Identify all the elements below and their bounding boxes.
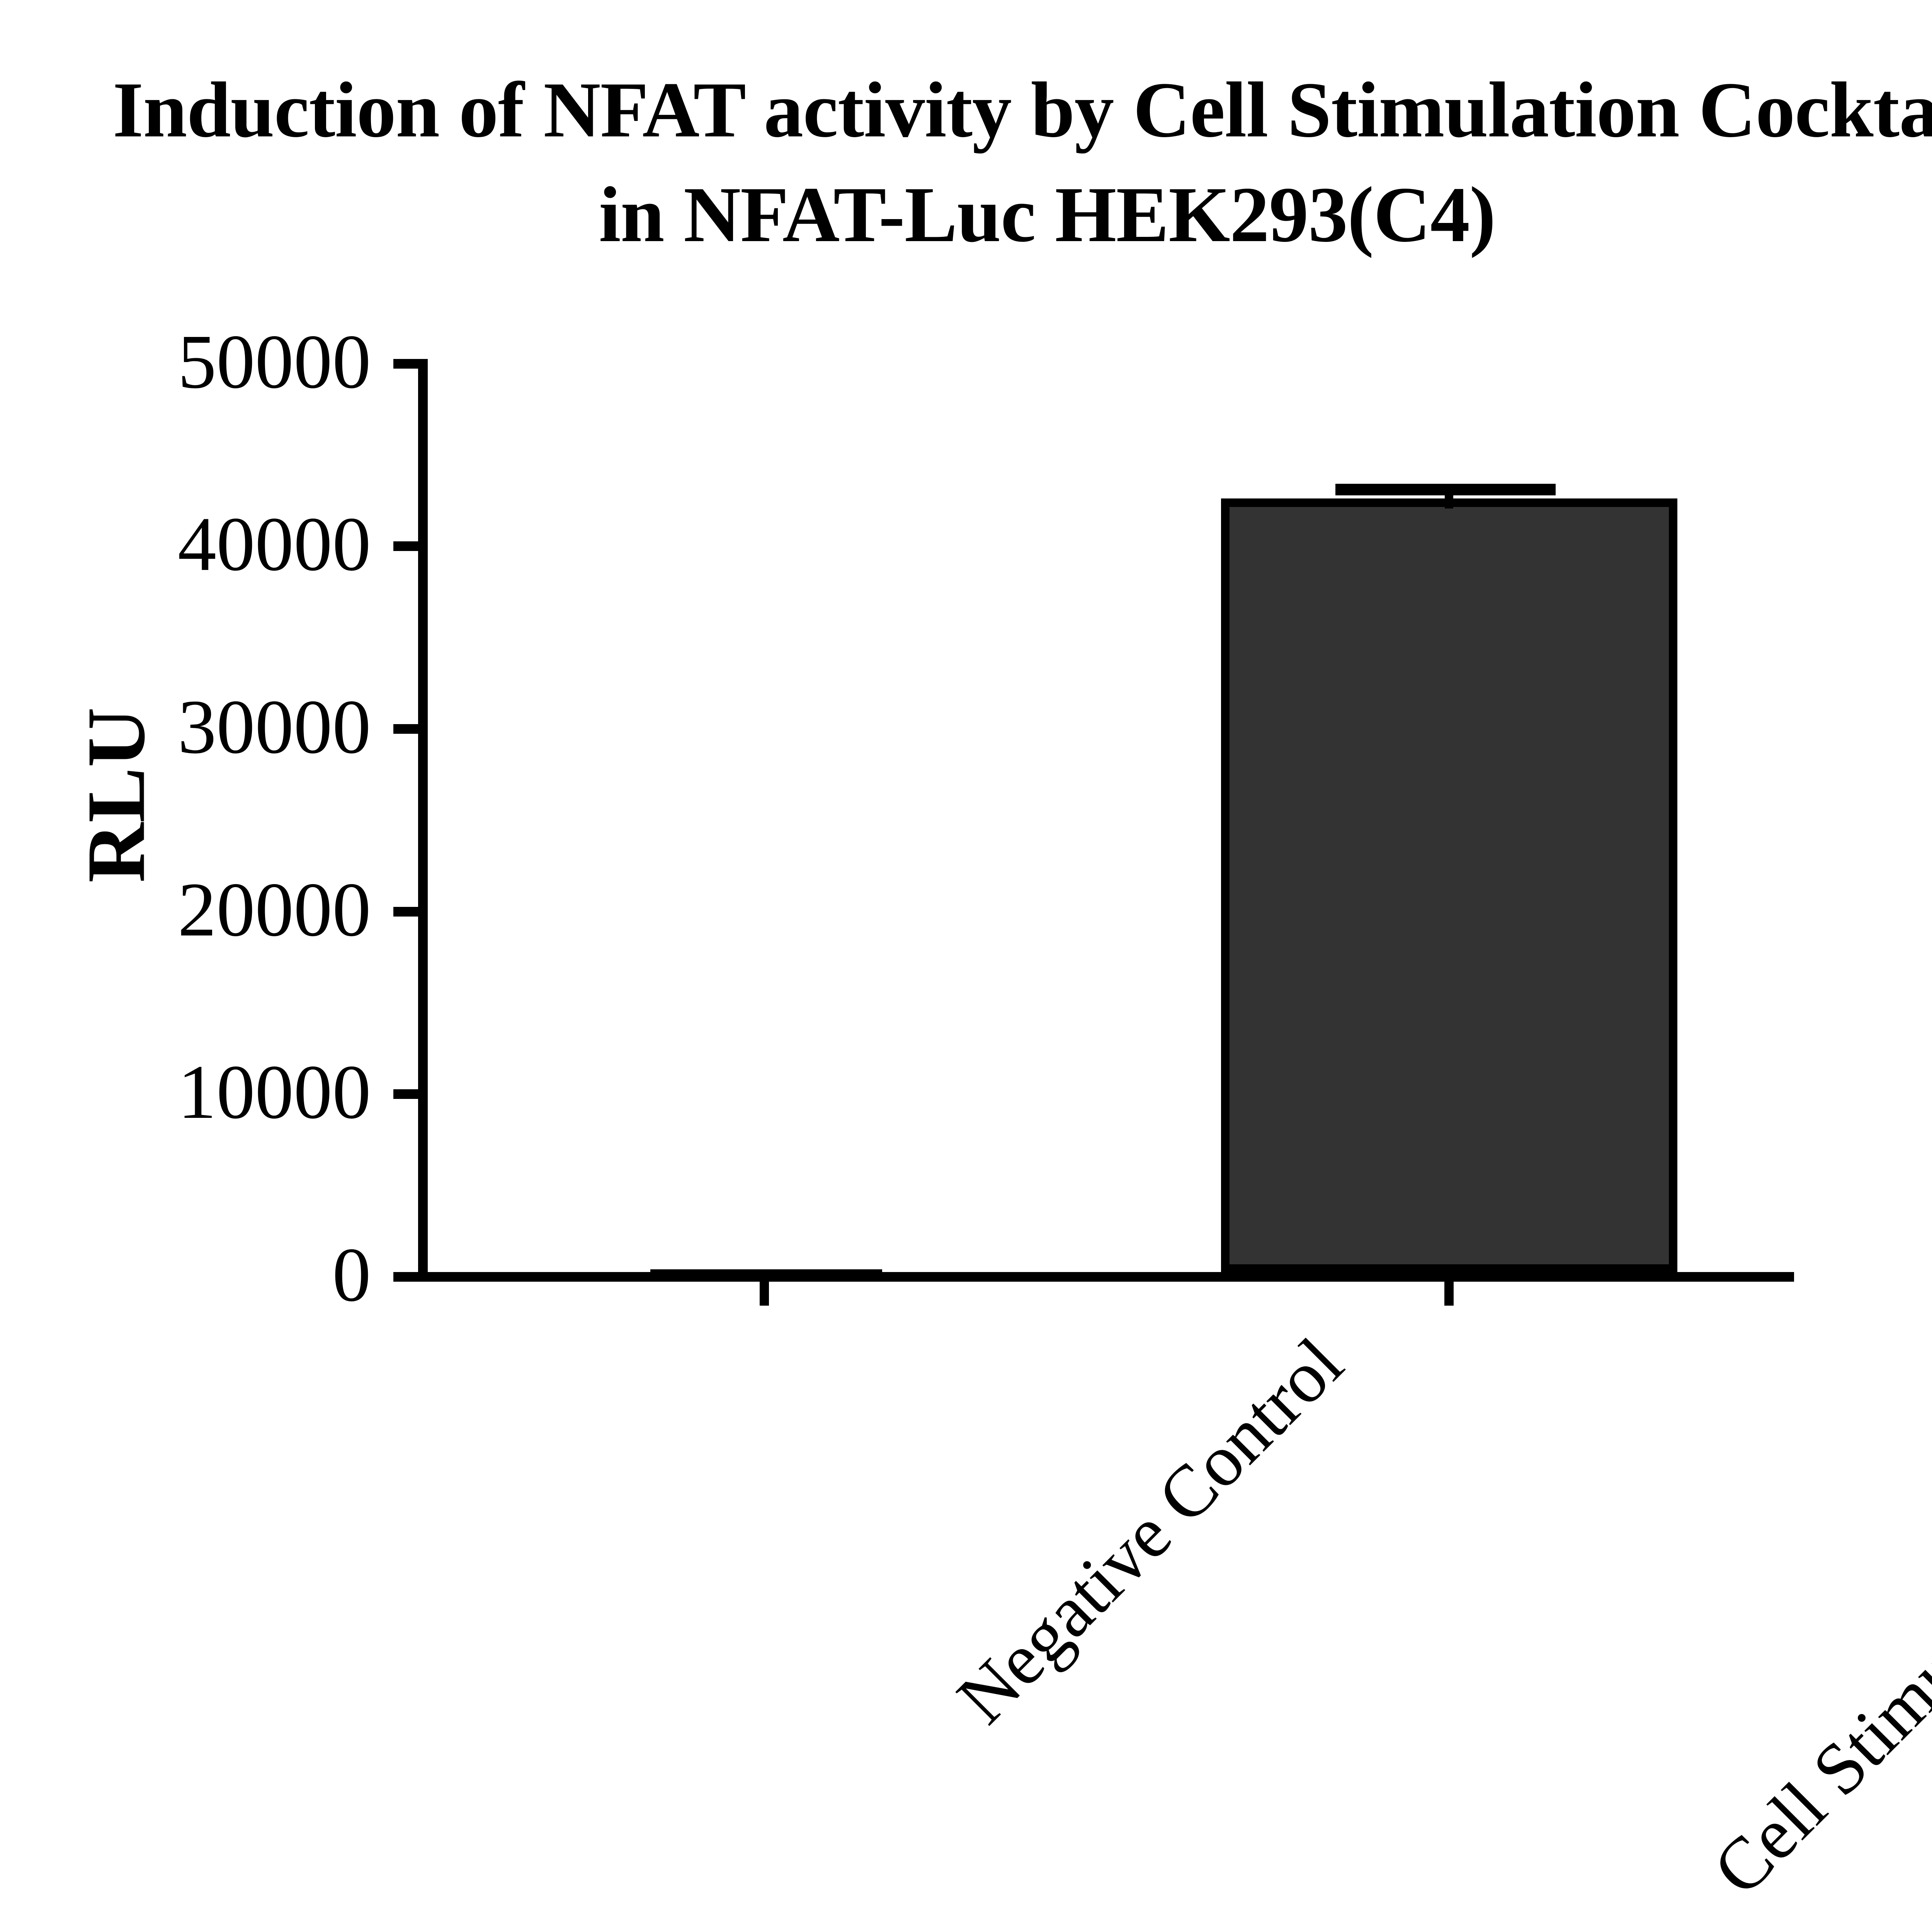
y-tick-20000 (393, 907, 421, 917)
plot-area: 0 10000 20000 30000 40000 50000 RLU Nega… (0, 0, 1932, 1932)
x-tick-negative-control (760, 1282, 769, 1306)
x-tick-cell-stimulation-cocktail (1444, 1282, 1454, 1306)
y-tick-label-0: 0 (23, 1236, 371, 1314)
bar-cell-stimulation-cocktail[interactable] (1221, 498, 1677, 1273)
x-label-cell-stimulation-cocktail: Cell Stimulation Cocktail (1701, 1325, 1932, 1908)
bar-negative-control[interactable] (650, 1269, 882, 1273)
x-label-negative-control: Negative Control (945, 1325, 1355, 1736)
y-tick-10000 (393, 1089, 421, 1099)
y-axis-title: RLU (75, 602, 158, 988)
y-tick-label-50000: 50000 (23, 323, 371, 401)
y-tick-50000 (393, 359, 421, 369)
y-tick-label-40000: 40000 (23, 506, 371, 583)
y-tick-0 (393, 1272, 421, 1282)
y-axis-line (418, 359, 428, 1282)
chart-figure: Induction of NFAT activity by Cell Stimu… (0, 0, 1932, 1932)
error-bar-cap-cell-stimulation-cocktail (1335, 484, 1556, 495)
y-tick-40000 (393, 541, 421, 551)
y-tick-30000 (393, 724, 421, 734)
x-axis-line (393, 1272, 1794, 1282)
y-tick-label-10000: 10000 (23, 1054, 371, 1131)
